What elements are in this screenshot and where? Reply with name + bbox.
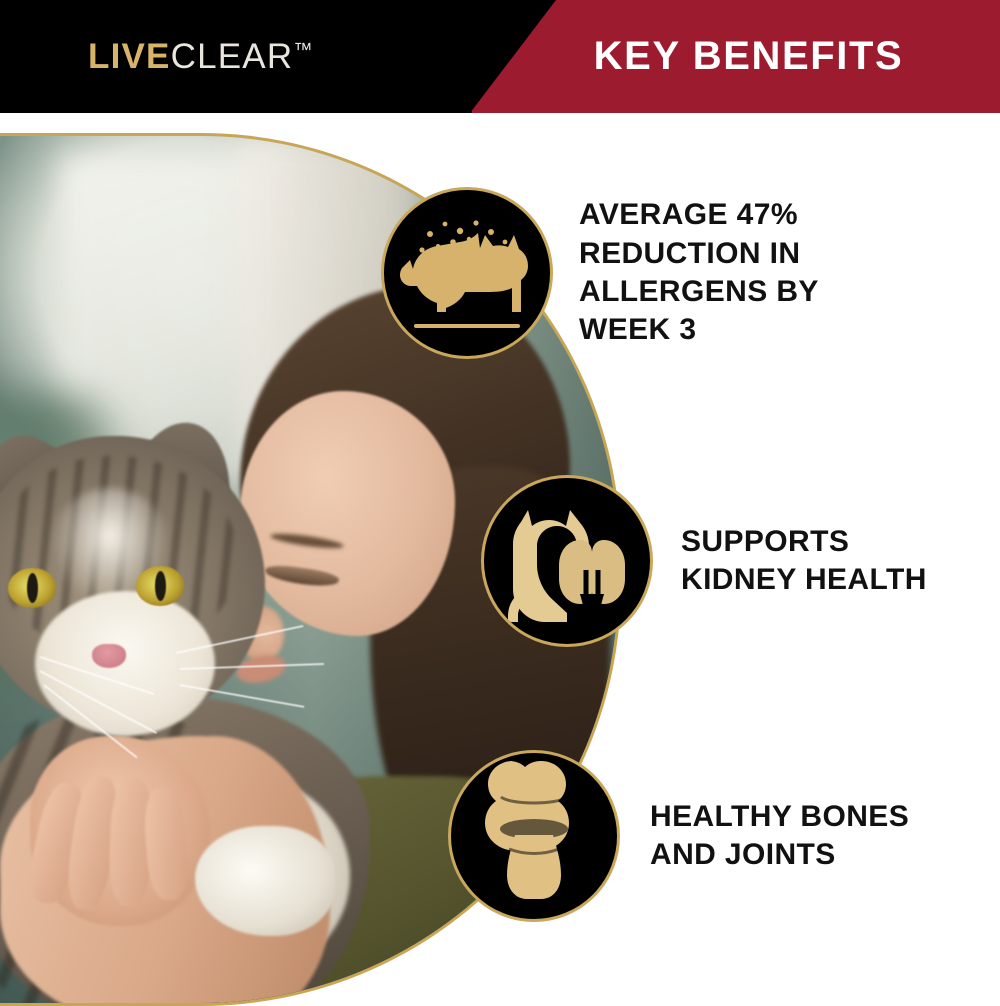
brand-panel: LIVECLEAR™ — [0, 0, 472, 113]
benefit-label-bones-joints: HEALTHY BONES AND JOINTS — [650, 798, 909, 875]
benefit-item-allergen-reduction: AVERAGE 47% REDUCTION IN ALLERGENS BY WE… — [381, 187, 819, 359]
trademark-symbol: ™ — [293, 40, 313, 61]
header-bar: LIVECLEAR™ KEY BENEFITS — [0, 0, 1000, 113]
benefit-label-allergen-reduction: AVERAGE 47% REDUCTION IN ALLERGENS BY WE… — [579, 196, 819, 350]
header-diagonal-wedge — [470, 0, 556, 113]
brand-logo-clear: CLEAR — [171, 37, 294, 76]
brand-logo-live: LIVE — [88, 37, 171, 76]
cat-kidney-icon — [481, 475, 653, 647]
benefit-item-bones-joints: HEALTHY BONES AND JOINTS — [448, 750, 909, 922]
bone-joint-icon — [448, 750, 620, 922]
cat-with-allergen-dander-icon — [381, 187, 553, 359]
benefit-item-kidney-health: SUPPORTS KIDNEY HEALTH — [481, 475, 927, 647]
benefit-label-kidney-health: SUPPORTS KIDNEY HEALTH — [681, 523, 927, 600]
brand-logo: LIVECLEAR™ — [88, 39, 314, 74]
main-content: AVERAGE 47% REDUCTION IN ALLERGENS BY WE… — [0, 113, 1000, 1000]
title-panel: KEY BENEFITS — [471, 0, 1000, 113]
page-title: KEY BENEFITS — [594, 34, 904, 79]
